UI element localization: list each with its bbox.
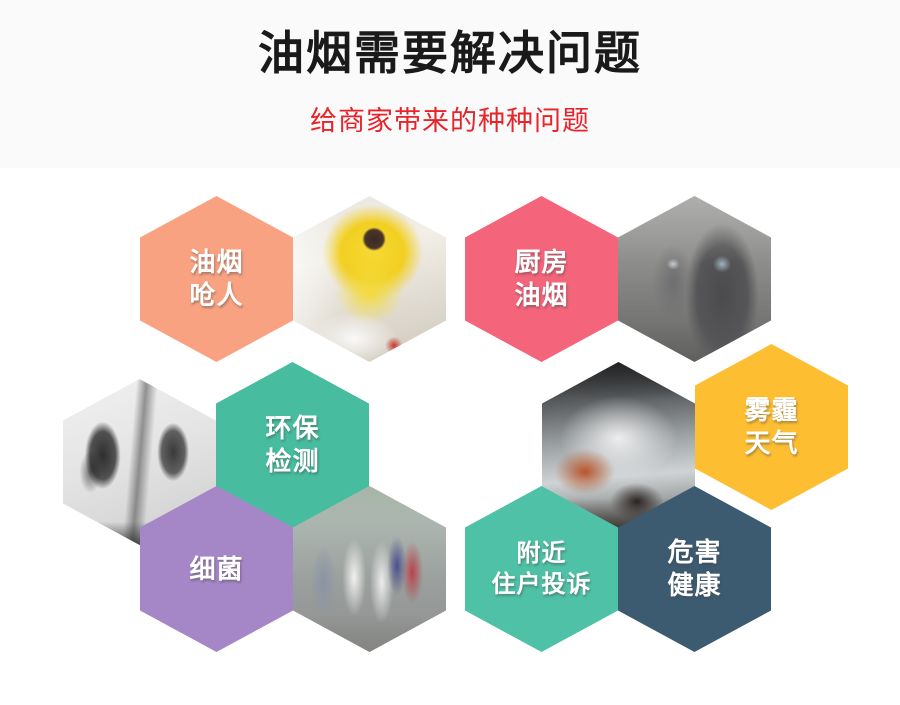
honeycomb-grid: 油烟 呛人厨房 油烟环保 检测雾霾 天气细菌附近 住户投诉危害 健康 <box>0 0 900 705</box>
photo-layer <box>618 196 771 362</box>
hex-label-chu-fang-you-yan: 厨房 油烟 <box>508 246 574 312</box>
page-root: 油烟需要解决问题 给商家带来的种种问题 油烟 呛人厨房 油烟环保 检测雾霾 天气… <box>0 0 900 705</box>
hex-photo-yellow-raincoat-kitchen-photo <box>293 196 446 362</box>
hex-photo-smog-masked-pedestrians-photo <box>618 196 771 362</box>
hex-label-xi-jun: 细菌 <box>183 553 249 586</box>
hex-cell-yellow-raincoat-kitchen-photo[interactable] <box>293 196 446 362</box>
hex-label-fu-jin-zhu-hu-tou-su: 附近 住户投诉 <box>486 538 598 600</box>
hex-label-you-yan-qiang-ren: 油烟 呛人 <box>183 246 249 312</box>
hex-cell-you-yan-qiang-ren[interactable]: 油烟 呛人 <box>140 196 293 362</box>
hex-cell-smog-masked-pedestrians-photo[interactable] <box>618 196 771 362</box>
hex-label-huan-bao-jian-ce: 环保 检测 <box>259 412 325 478</box>
photo-layer <box>293 196 446 362</box>
hex-label-wu-mai-tian-qi: 雾霾 天气 <box>738 394 804 460</box>
hex-cell-chu-fang-you-yan[interactable]: 厨房 油烟 <box>465 196 618 362</box>
hex-cell-wu-mai-tian-qi[interactable]: 雾霾 天气 <box>695 344 848 510</box>
hex-label-wei-hai-jian-kang: 危害 健康 <box>661 536 727 602</box>
